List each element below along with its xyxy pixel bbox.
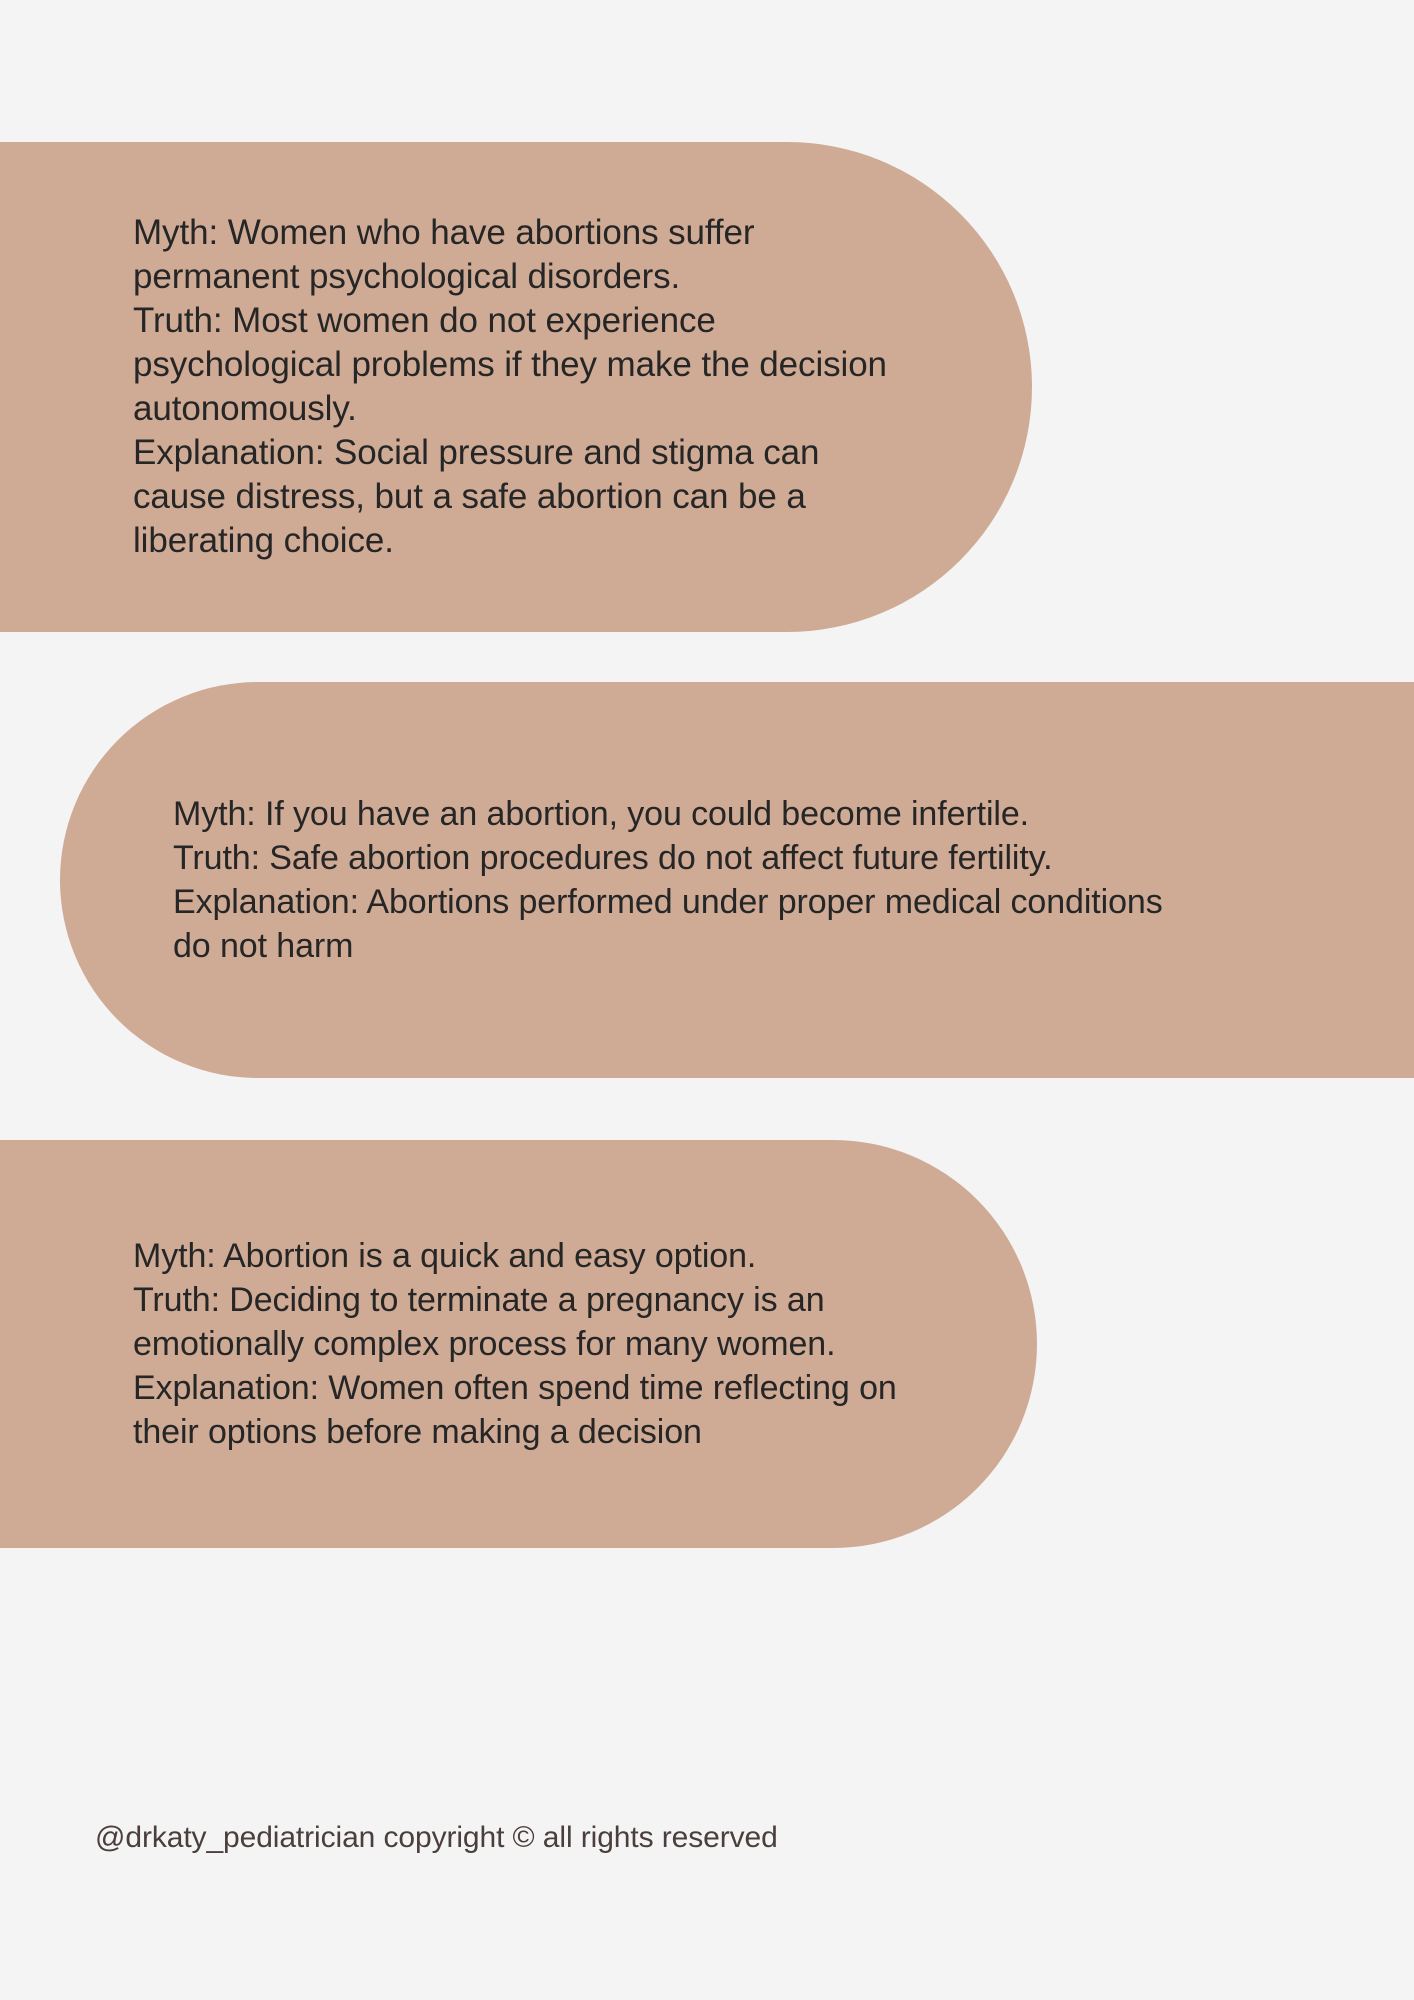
myth-card-3-body: Myth: Abortion is a quick and easy optio… [133,1234,927,1455]
myth-card-2: Myth: If you have an abortion, you could… [60,682,1414,1078]
myth-card-3: Myth: Abortion is a quick and easy optio… [0,1140,1037,1548]
footer-credit: @drkaty_pediatrician copyright © all rig… [95,1818,778,1857]
poster-canvas: Myth: Women who have abortions suffer pe… [0,0,1414,2000]
myth-card-1: Myth: Women who have abortions suffer pe… [0,142,1032,632]
myth-card-2-body: Myth: If you have an abortion, you could… [173,792,1204,969]
myth-card-1-body: Myth: Women who have abortions suffer pe… [133,211,912,564]
